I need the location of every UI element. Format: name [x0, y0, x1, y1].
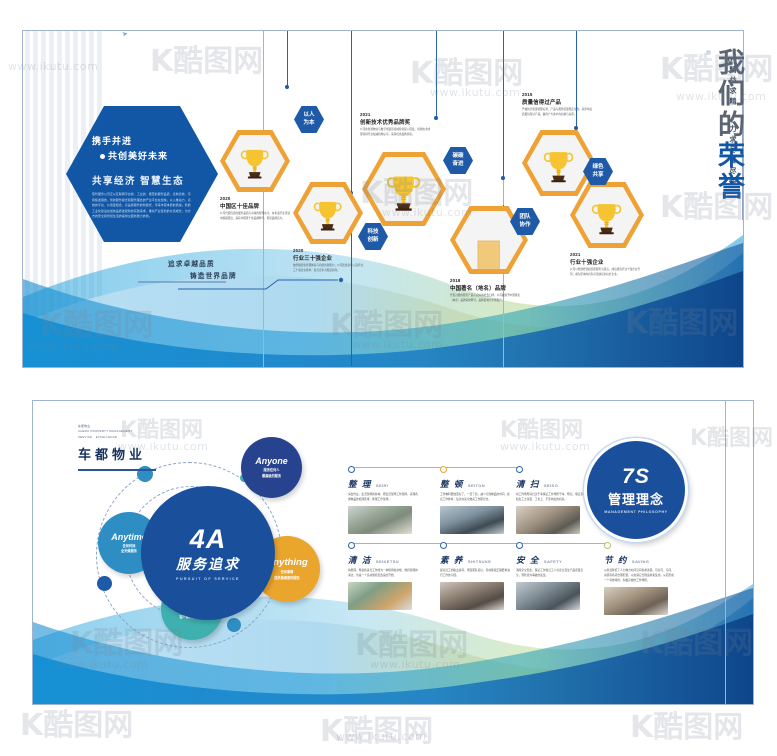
quality-slogan: 追求卓越品质 铸造世界品牌	[168, 258, 237, 280]
honor-dot	[706, 50, 711, 55]
award-title: 中国区十佳品牌	[220, 202, 292, 210]
award-caption-award-2020-brand: 2020中国区十佳品牌公司凭借优质的服务品质与卓越的管理水平，在年度行业评选中脱…	[220, 196, 292, 222]
certificate-icon	[477, 240, 500, 269]
service-center-number: 4A	[190, 526, 227, 553]
connector-line	[351, 31, 352, 193]
service-center-circle: 4A服务追求PURSUIT OF SERVICE	[141, 486, 275, 620]
hex-tag-label: 团队协作	[519, 214, 530, 229]
s7-item-shitsuke: 素 养SHITSUKE提高员工的职业素养，增强团队意识，养成能按正确要求进行工作…	[440, 554, 510, 610]
s7-item-desc: 将工作场所清扫过于净保证工作场所干净、明亮，保证现场和生工之谊量、工位上、不影响…	[516, 492, 586, 502]
wave-graphic-top	[23, 227, 743, 367]
trophy-icon	[386, 173, 421, 213]
service-accent-dot-1	[97, 576, 112, 591]
s7-item-en: SAFETY	[544, 559, 562, 564]
brand-rule	[78, 469, 156, 471]
award-hexagon-inner	[225, 135, 285, 187]
s7-item-en: SEITON	[468, 483, 485, 488]
service-accent-dot-2	[227, 618, 241, 632]
award-hexagon-inner	[527, 135, 591, 191]
s7-timeline-row2	[352, 543, 610, 544]
service-node-anyone: Anyone服务任何人最高级的服务	[241, 437, 302, 498]
award-hexagon-inner	[298, 187, 358, 239]
award-title: 质量信得过产品	[522, 98, 594, 106]
honor-title: 我们的荣誉	[715, 48, 743, 203]
connector-line	[436, 31, 437, 119]
s7-item-cn: 整 理	[348, 478, 372, 490]
service-node-sub: 服务任何人最高级的服务	[262, 468, 281, 479]
connector-line	[351, 220, 352, 366]
award-desc: 公司以稳健经营和优质服务为基石，成功跻身行业十强企业行列，成为区域内具有示范效应…	[570, 268, 642, 278]
award-hexagon-inner	[367, 157, 441, 221]
s7-item-en: SEISO	[544, 483, 558, 488]
s7-item-header: 节 约SAVING	[604, 554, 674, 566]
s7-item-cn: 素 养	[440, 554, 464, 566]
s7-node-dot	[348, 542, 355, 549]
hex-body-text: 现代服务公司正以互联网平台的、工业的、规范的服务品质、高效高效、可持续发展的，新…	[92, 192, 192, 220]
s7-item-header: 整 顿SEITON	[440, 478, 510, 490]
hex-tag-label: 科技创新	[367, 229, 378, 244]
s7-item-desc: 工作物料要放置好了，一目了然，减少寻找物品的时间，提高工作效率，每次在完全做完工…	[440, 492, 510, 502]
s7-badge-en: MANAGEMENT PHILOSOPHY	[604, 510, 667, 514]
award-caption-award-2015-quality: 2015质量信得过产品严格执行质量管理标准，产品与服务质量稳定可靠，获评年度质量…	[522, 92, 594, 118]
poster-canvas: 携手并进 共创美好未来 共享经济 智慧生态 现代服务公司正以互联网平台的、工业的…	[0, 0, 777, 756]
service-node-sub: 任何时间全天候服务	[121, 544, 137, 555]
award-title: 中国著名（地名）品牌	[450, 284, 522, 292]
connector-line	[503, 31, 504, 179]
award-hexagon-inner	[575, 187, 639, 243]
s7-item-seiton: 整 顿SEITON工作物料要放置好了，一目了然，减少寻找物品的时间，提高工作效率…	[440, 478, 510, 534]
hex-line-2-text: 共创美好未来	[108, 151, 168, 161]
service-node-sub: 任何事情提供最满意的服务	[274, 570, 300, 581]
hex-line-3: 共享经济 智慧生态	[92, 173, 192, 187]
s7-item-photo	[348, 582, 412, 610]
s7-item-photo	[604, 587, 668, 615]
s7-node-dot	[604, 542, 611, 549]
s7-item-desc: 以永远降低了人力物力时间空间各类资源，可对可、空间、资源等各项合理配置，以充满它…	[604, 568, 674, 583]
award-caption-award-2018-famous: 2018中国著名（地名）品牌凭借过硬的服务产品与良好的社会口碑，公司被授予中国著…	[450, 278, 522, 304]
award-desc: 公司凭借优质的服务品质与卓越的管理水平，在年度行业评选中脱颖而出，荣获中国区十佳…	[220, 212, 292, 222]
award-caption-award-2021-top10: 2021行业十强企业公司以稳健经营和优质服务为基石，成功跻身行业十强企业行列，成…	[570, 252, 642, 278]
s7-item-en: SEIRI	[376, 483, 388, 488]
s7-item-cn: 安 全	[516, 554, 540, 566]
award-title: 行业十强企业	[570, 258, 642, 266]
s7-item-cn: 整 顿	[440, 478, 464, 490]
panel-divider-3	[725, 401, 726, 704]
award-year: 2018	[450, 278, 522, 283]
honor-title-text: 我们的荣誉	[715, 48, 743, 203]
award-caption-award-2021-research: 2021创新技术优秀品牌奖公司在智慧物业与数字化运营领域持续投入研发，创新技术成…	[360, 112, 432, 138]
s7-item-seiri: 整 理SEIRI清出作业、生活现场的各种，把生活现场工作现场，清理各类物品的处理…	[348, 478, 418, 534]
trophy-icon	[591, 201, 622, 236]
s7-item-photo	[440, 506, 504, 534]
s7-item-header: 清 洁SEIKETSU	[348, 554, 418, 566]
award-year: 2020	[293, 248, 365, 253]
award-title: 创新技术优秀品牌奖	[360, 118, 432, 126]
connector-dot	[434, 116, 438, 120]
trophy-icon	[240, 147, 269, 180]
hex-tag-label: 以人为本	[303, 112, 314, 127]
s7-item-en: SEIKETSU	[376, 559, 399, 564]
s7-item-header: 安 全SAFETY	[516, 554, 586, 566]
watermark: K酷图网	[20, 700, 133, 744]
slogan-line-1: 追求卓越品质	[168, 258, 237, 268]
s7-item-cn: 清 洁	[348, 554, 372, 566]
s7-item-desc: 提高员工的职业素养，增强团队意识，养成能按正确要求进行工作的习惯。	[440, 568, 510, 578]
trophy-icon	[313, 199, 342, 232]
s7-timeline-row1	[352, 467, 522, 468]
s7-item-desc: 消除安全隐患，保证工作和员工人身安全及生产品质量安全，预防意外事故的发生。	[516, 568, 586, 578]
s7-item-cn: 清 扫	[516, 478, 540, 490]
s7-item-seiso: 清 扫SEISO将工作场所清扫过于净保证工作场所干净、明亮，保证现场和生工之谊量…	[516, 478, 586, 534]
s7-badge-cn: 管理理念	[608, 489, 664, 508]
s7-item-saving: 节 约SAVING以永远降低了人力物力时间空间各类资源，可对可、空间、资源等各项…	[604, 554, 674, 615]
s7-item-header: 整 理SEIRI	[348, 478, 418, 490]
s7-node-dot	[440, 466, 447, 473]
award-year: 2020	[220, 196, 292, 201]
award-year: 2015	[522, 92, 594, 97]
s7-item-en: SHITSUKE	[468, 559, 491, 564]
award-year: 2021	[570, 252, 642, 257]
award-desc: 公司在智慧物业与数字化运营领域持续投入研发，创新技术成果获得行业权威机构认可，荣…	[360, 128, 432, 138]
s7-item-safety: 安 全SAFETY消除安全隐患，保证工作和员工人身安全及生产品质量安全，预防意外…	[516, 554, 586, 610]
slogan-underline	[138, 272, 368, 292]
brand-block: 车都物业 CHEDU PROPERTY MANAGEMENT SERVICE ·…	[78, 424, 156, 471]
award-title: 行业三十强企业	[293, 254, 365, 262]
award-year: 2021	[360, 112, 432, 117]
s7-item-desc: 清出作业、生活现场的各种，把生活现场工作现场，清理各类物品的处理区域，整理工作现…	[348, 492, 418, 502]
watermark: K酷图网	[320, 706, 433, 750]
s7-badge: 7S 管理理念 MANAGEMENT PHILOSOPHY	[584, 438, 688, 542]
trophy-icon	[543, 149, 574, 184]
s7-item-desc: 将整理、整顿和清扫工作成为一种惯例和常规，维持现场的清洁，也是一个自动维持及改良…	[348, 568, 418, 578]
s7-node-dot	[516, 542, 523, 549]
s7-node-dot	[440, 542, 447, 549]
hex-line-1: 携手并进	[92, 134, 192, 147]
s7-item-cn: 节 约	[604, 554, 628, 566]
hex-tag-label: 绿色共享	[592, 164, 603, 179]
honor-title-blue: 荣誉	[714, 141, 744, 203]
s7-node-dot	[516, 466, 523, 473]
s7-item-photo	[516, 506, 580, 534]
s7-item-photo	[440, 582, 504, 610]
honor-title-gray: 我们的	[714, 48, 744, 141]
s7-node-dot	[348, 466, 355, 473]
s7-item-photo	[516, 582, 580, 610]
award-desc: 严格执行质量管理标准，产品与服务质量稳定可靠，获评年度质量信得过产品，赢得广大客…	[522, 108, 594, 118]
s7-item-photo	[348, 506, 412, 534]
brand-en-3: SERVICE · EXCELLENCE	[78, 435, 156, 440]
hex-tag-label: 碳碳奋进	[452, 153, 463, 168]
connector-line	[287, 31, 288, 87]
paper-plane-small-icon: ➤	[121, 29, 128, 38]
s7-item-header: 素 养SHITSUKE	[440, 554, 510, 566]
service-center-en: PURSUIT OF SERVICE	[176, 577, 240, 581]
service-node-label: Anyone	[255, 456, 287, 466]
service-center-cn: 服务追求	[176, 554, 240, 574]
award-caption-award-2020-top30: 2020行业三十强企业依托规范化管理体系与持续创新能力，公司连续多年入选行业三十…	[293, 248, 365, 274]
watermark: K酷图网	[630, 702, 743, 746]
s7-badge-number: 7S	[622, 466, 650, 487]
s7-item-header: 清 扫SEISO	[516, 478, 586, 490]
award-desc: 凭借过硬的服务产品与良好的社会口碑，公司被授予中国著名（地名）品牌荣誉称号，品牌…	[450, 294, 522, 304]
connector-dot	[285, 85, 289, 89]
connector-dot	[574, 126, 578, 130]
s7-item-en: SAVING	[632, 559, 649, 564]
watermark: www.ikutu.com	[336, 730, 426, 743]
hex-line-2: 共创美好未来	[92, 149, 192, 162]
s7-item-seiketsu: 清 洁SEIKETSU将整理、整顿和清扫工作成为一种惯例和常规，维持现场的清洁，…	[348, 554, 418, 610]
brand-name: 车都物业	[78, 444, 156, 463]
connector-dot	[501, 176, 505, 180]
